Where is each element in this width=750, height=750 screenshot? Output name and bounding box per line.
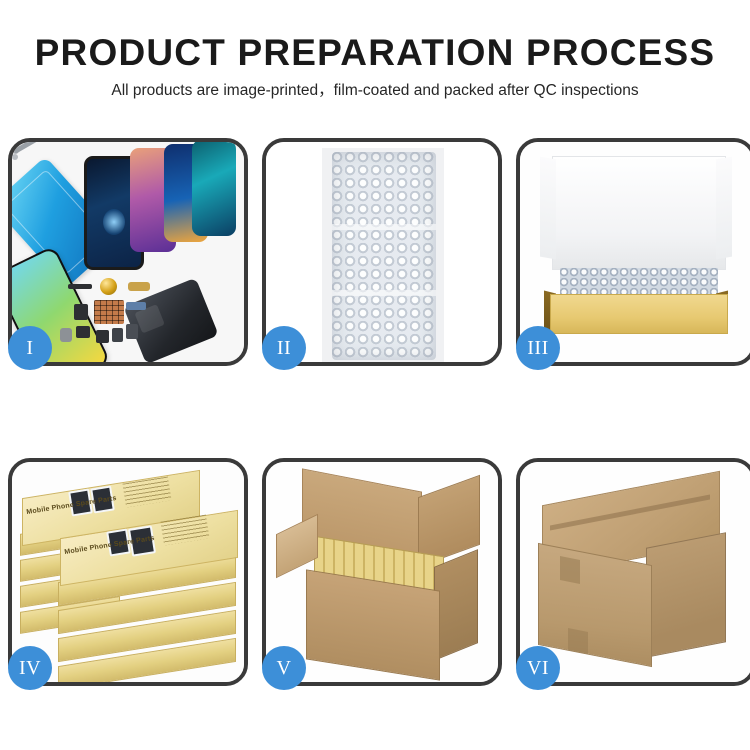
- carton-side-panel: [434, 549, 478, 661]
- spare-part-small-2-icon: [76, 326, 90, 338]
- step-badge-2: II: [262, 326, 306, 370]
- mailer-box-lid: [552, 156, 726, 270]
- mailer-box-front-panel: [550, 294, 728, 334]
- bubble-wrap-image: [266, 142, 498, 362]
- spare-part-small-6-icon: [60, 328, 72, 342]
- spare-part-small-3-icon: [96, 330, 109, 343]
- sealed-carton-flap-tab-top: [560, 556, 580, 584]
- open-carton-image: [266, 462, 498, 682]
- spare-part-small-4-icon: [112, 328, 123, 342]
- process-step-grid: I II III: [8, 138, 742, 686]
- repair-tool-icon: [13, 142, 41, 154]
- process-step-panel-4[interactable]: Mobile Phone Spare Parts Mobile Phone Sp…: [8, 458, 248, 686]
- step-badge-5: V: [262, 646, 306, 690]
- step-badge-3: III: [516, 326, 560, 370]
- process-step-panel-1[interactable]: I: [8, 138, 248, 366]
- spare-part-bar-icon: [68, 284, 92, 289]
- spare-part-connector-icon: [126, 302, 146, 310]
- process-step-panel-6[interactable]: VI: [516, 458, 750, 686]
- step-badge-4: IV: [8, 646, 52, 690]
- page-title: PRODUCT PREPARATION PROCESS: [0, 30, 750, 76]
- sealed-carton-front-panel: [538, 543, 652, 667]
- mailer-box-lid-flap-right: [716, 157, 732, 260]
- mailer-box-lid-flap-left: [540, 157, 556, 260]
- phone-parts-image: [12, 142, 244, 362]
- spare-part-flex-cable-icon: [128, 282, 150, 291]
- spare-part-screw-grid-icon: [94, 300, 124, 324]
- screw-2-icon: [12, 154, 18, 160]
- phone-teal-icon: [192, 142, 236, 236]
- sealed-carton-image: [520, 462, 750, 682]
- bubble-wrap-seam-top: [332, 224, 436, 230]
- spare-part-coil-icon: [100, 278, 117, 295]
- process-step-panel-3[interactable]: III: [516, 138, 750, 366]
- sealed-carton-side-panel: [646, 532, 726, 658]
- process-step-panel-2[interactable]: II: [262, 138, 502, 366]
- page-header: PRODUCT PREPARATION PROCESS All products…: [0, 0, 750, 102]
- process-step-panel-5[interactable]: V: [262, 458, 502, 686]
- sealed-carton-flap-tab-bottom: [568, 628, 588, 654]
- bubble-wrap-sheet-icon: [332, 152, 436, 360]
- open-mailer-box-image: [520, 142, 750, 362]
- step-badge-6: VI: [516, 646, 560, 690]
- spare-part-small-5-icon: [126, 324, 138, 339]
- spare-part-small-1-icon: [74, 304, 88, 320]
- page-subtitle: All products are image-printed，film-coat…: [0, 80, 750, 102]
- bubble-wrap-seam-bottom: [332, 290, 436, 296]
- stacked-retail-boxes-image: Mobile Phone Spare Parts Mobile Phone Sp…: [12, 462, 244, 682]
- carton-flap-left: [276, 514, 318, 578]
- step-badge-1: I: [8, 326, 52, 370]
- mailer-box-bubble-wrap-content: [560, 268, 718, 296]
